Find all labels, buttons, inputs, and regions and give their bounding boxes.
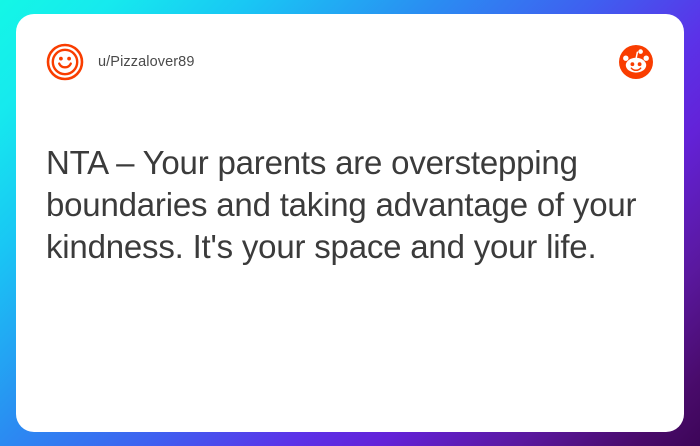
- reddit-brand-button[interactable]: [618, 44, 654, 80]
- reddit-snoo-logo-icon: [618, 44, 654, 80]
- smiley-face-avatar-icon: [46, 43, 84, 81]
- gradient-backdrop: u/Pizzalover89 NTA – Your parents are ov…: [0, 0, 700, 446]
- card-header: u/Pizzalover89: [46, 40, 654, 84]
- avatar[interactable]: [46, 43, 84, 81]
- reddit-comment-card: u/Pizzalover89 NTA – Your parents are ov…: [16, 14, 684, 432]
- comment-text: NTA – Your parents are overstepping boun…: [46, 142, 654, 268]
- username-label: u/Pizzalover89: [98, 54, 195, 70]
- card-body: NTA – Your parents are overstepping boun…: [46, 84, 654, 408]
